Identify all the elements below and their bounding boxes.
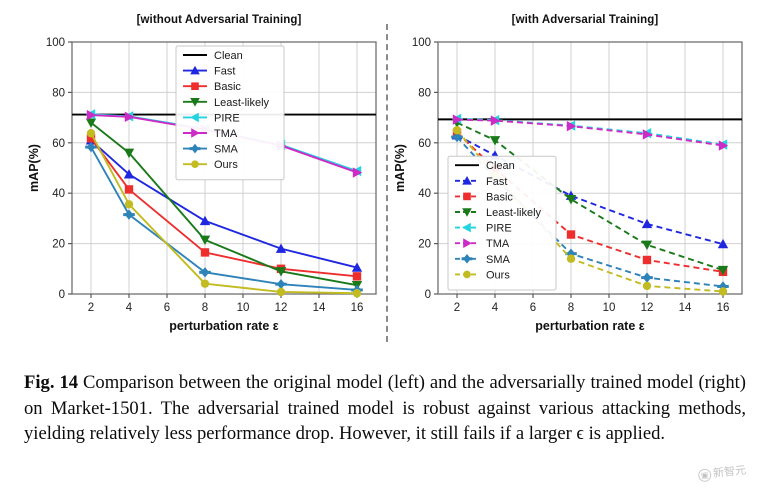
svg-text:16: 16	[351, 302, 364, 314]
figure-label: Fig. 14	[24, 372, 78, 393]
svg-text:100: 100	[412, 37, 431, 49]
legend-label: PIRE	[486, 223, 512, 235]
legend-label: Clean	[486, 160, 515, 172]
chart-title-left: [without Adversarial Training]	[26, 14, 386, 26]
svg-text:12: 12	[275, 302, 288, 314]
svg-text:2: 2	[454, 302, 460, 314]
figure-area: [without Adversarial Training] 020406080…	[0, 0, 764, 366]
svg-text:14: 14	[679, 302, 692, 314]
plot-left: 020406080100246810121416perturbation rat…	[26, 32, 386, 352]
svg-text:80: 80	[418, 87, 431, 99]
legend-label: Clean	[214, 50, 243, 62]
legend: CleanFastBasicLeast-likelyPIRETMASMAOurs	[176, 46, 284, 180]
chart-panel-left: [without Adversarial Training] 020406080…	[26, 14, 386, 366]
svg-text:20: 20	[418, 239, 431, 251]
svg-text:14: 14	[313, 302, 326, 314]
watermark: ▣新智元	[697, 462, 746, 483]
svg-text:40: 40	[52, 188, 65, 200]
legend-label: TMA	[214, 128, 238, 140]
svg-text:80: 80	[52, 87, 65, 99]
legend-label: Ours	[214, 159, 238, 171]
svg-text:8: 8	[568, 302, 574, 314]
legend-label: Least-likely	[486, 207, 542, 219]
legend: CleanFastBasicLeast-likelyPIRETMASMAOurs	[448, 156, 556, 290]
svg-text:4: 4	[126, 302, 133, 314]
chart-panel-right: [with Adversarial Training] 020406080100…	[392, 14, 752, 366]
svg-text:10: 10	[603, 302, 616, 314]
svg-text:0: 0	[425, 289, 431, 301]
svg-text:60: 60	[52, 138, 65, 150]
panel-divider	[386, 24, 388, 342]
legend-label: PIRE	[214, 112, 240, 124]
svg-text:6: 6	[164, 302, 170, 314]
figure-caption-text: Comparison between the original model (l…	[24, 372, 746, 444]
legend-label: Fast	[214, 66, 235, 78]
legend-label: SMA	[486, 254, 511, 266]
svg-text:10: 10	[237, 302, 250, 314]
x-axis-label: perturbation rate ε	[535, 319, 644, 333]
legend-label: Fast	[486, 176, 507, 188]
svg-text:12: 12	[641, 302, 654, 314]
plot-svg-right: 020406080100246810121416perturbation rat…	[392, 32, 752, 352]
legend-label: Ours	[486, 269, 510, 281]
plot-svg-left: 020406080100246810121416perturbation rat…	[26, 32, 386, 352]
legend-label: Basic	[214, 81, 241, 93]
watermark-text: 新智元	[713, 465, 747, 480]
chart-title-right: [with Adversarial Training]	[392, 14, 752, 26]
svg-text:16: 16	[717, 302, 730, 314]
figure-caption: Fig. 14 Comparison between the original …	[24, 370, 746, 447]
legend-label: SMA	[214, 144, 239, 156]
svg-text:60: 60	[418, 138, 431, 150]
svg-text:40: 40	[418, 188, 431, 200]
svg-text:100: 100	[46, 37, 65, 49]
svg-text:4: 4	[492, 302, 499, 314]
y-axis-label: mAP(%)	[27, 144, 41, 192]
legend-label: Least-likely	[214, 97, 270, 109]
y-axis-label: mAP(%)	[393, 144, 407, 192]
legend-label: TMA	[486, 238, 510, 250]
watermark-badge-icon: ▣	[698, 468, 712, 482]
plot-right: 020406080100246810121416perturbation rat…	[392, 32, 752, 352]
svg-text:2: 2	[88, 302, 94, 314]
legend-label: Basic	[486, 191, 513, 203]
svg-text:20: 20	[52, 239, 65, 251]
svg-text:0: 0	[59, 289, 65, 301]
svg-text:6: 6	[530, 302, 536, 314]
svg-text:8: 8	[202, 302, 208, 314]
x-axis-label: perturbation rate ε	[169, 319, 278, 333]
